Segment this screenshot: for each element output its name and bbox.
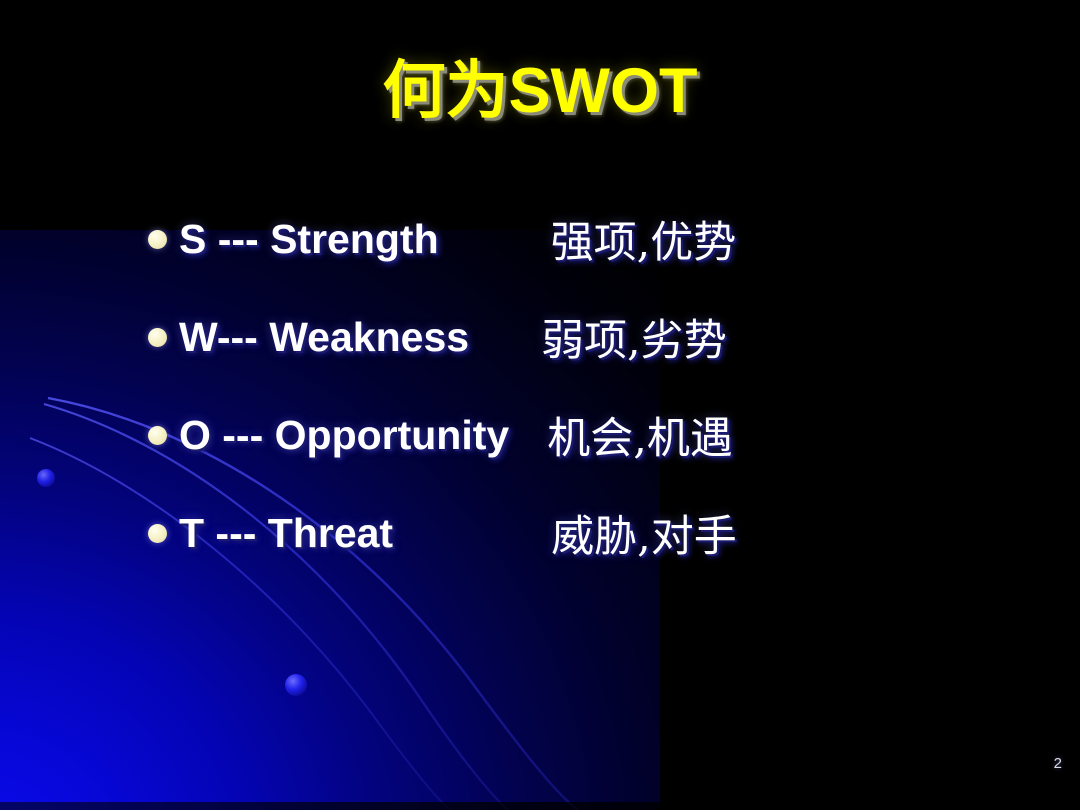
list-item-chinese-label: 强项,优势 [551, 208, 737, 270]
arc-node-dot [285, 674, 307, 696]
arc-node-dot [37, 469, 55, 487]
round-bullet-icon [148, 230, 167, 249]
list-item-english-label: W--- Weakness [179, 314, 469, 361]
list-item-chinese-label: 机会,机遇 [547, 404, 733, 466]
list-item: S --- Strength 强项,优势 [148, 190, 1048, 288]
list-item: W--- Weakness 弱项,劣势 [148, 288, 1048, 386]
list-item-english-label: S --- Strength [179, 216, 439, 263]
bottom-edge-shading [0, 802, 1080, 810]
bullet-list: S --- Strength 强项,优势 W--- Weakness 弱项,劣势… [148, 190, 1048, 582]
list-item: T --- Threat 威胁,对手 [148, 484, 1048, 582]
list-item-english-label: O --- Opportunity [179, 412, 509, 459]
presentation-slide: 何为SWOT S --- Strength 强项,优势 W--- Weaknes… [0, 0, 1080, 810]
round-bullet-icon [148, 524, 167, 543]
round-bullet-icon [148, 426, 167, 445]
slide-title-latin: SWOT [509, 56, 698, 126]
list-item-chinese-label: 威胁,对手 [551, 502, 737, 564]
list-item-english-label: T --- Threat [179, 510, 393, 557]
page-number: 2 [1054, 755, 1062, 772]
list-item-chinese-label: 弱项,劣势 [541, 306, 727, 368]
slide-title-chinese: 何为 [383, 54, 509, 127]
list-item: O --- Opportunity 机会,机遇 [148, 386, 1048, 484]
round-bullet-icon [148, 328, 167, 347]
slide-title: 何为SWOT [0, 56, 1080, 126]
